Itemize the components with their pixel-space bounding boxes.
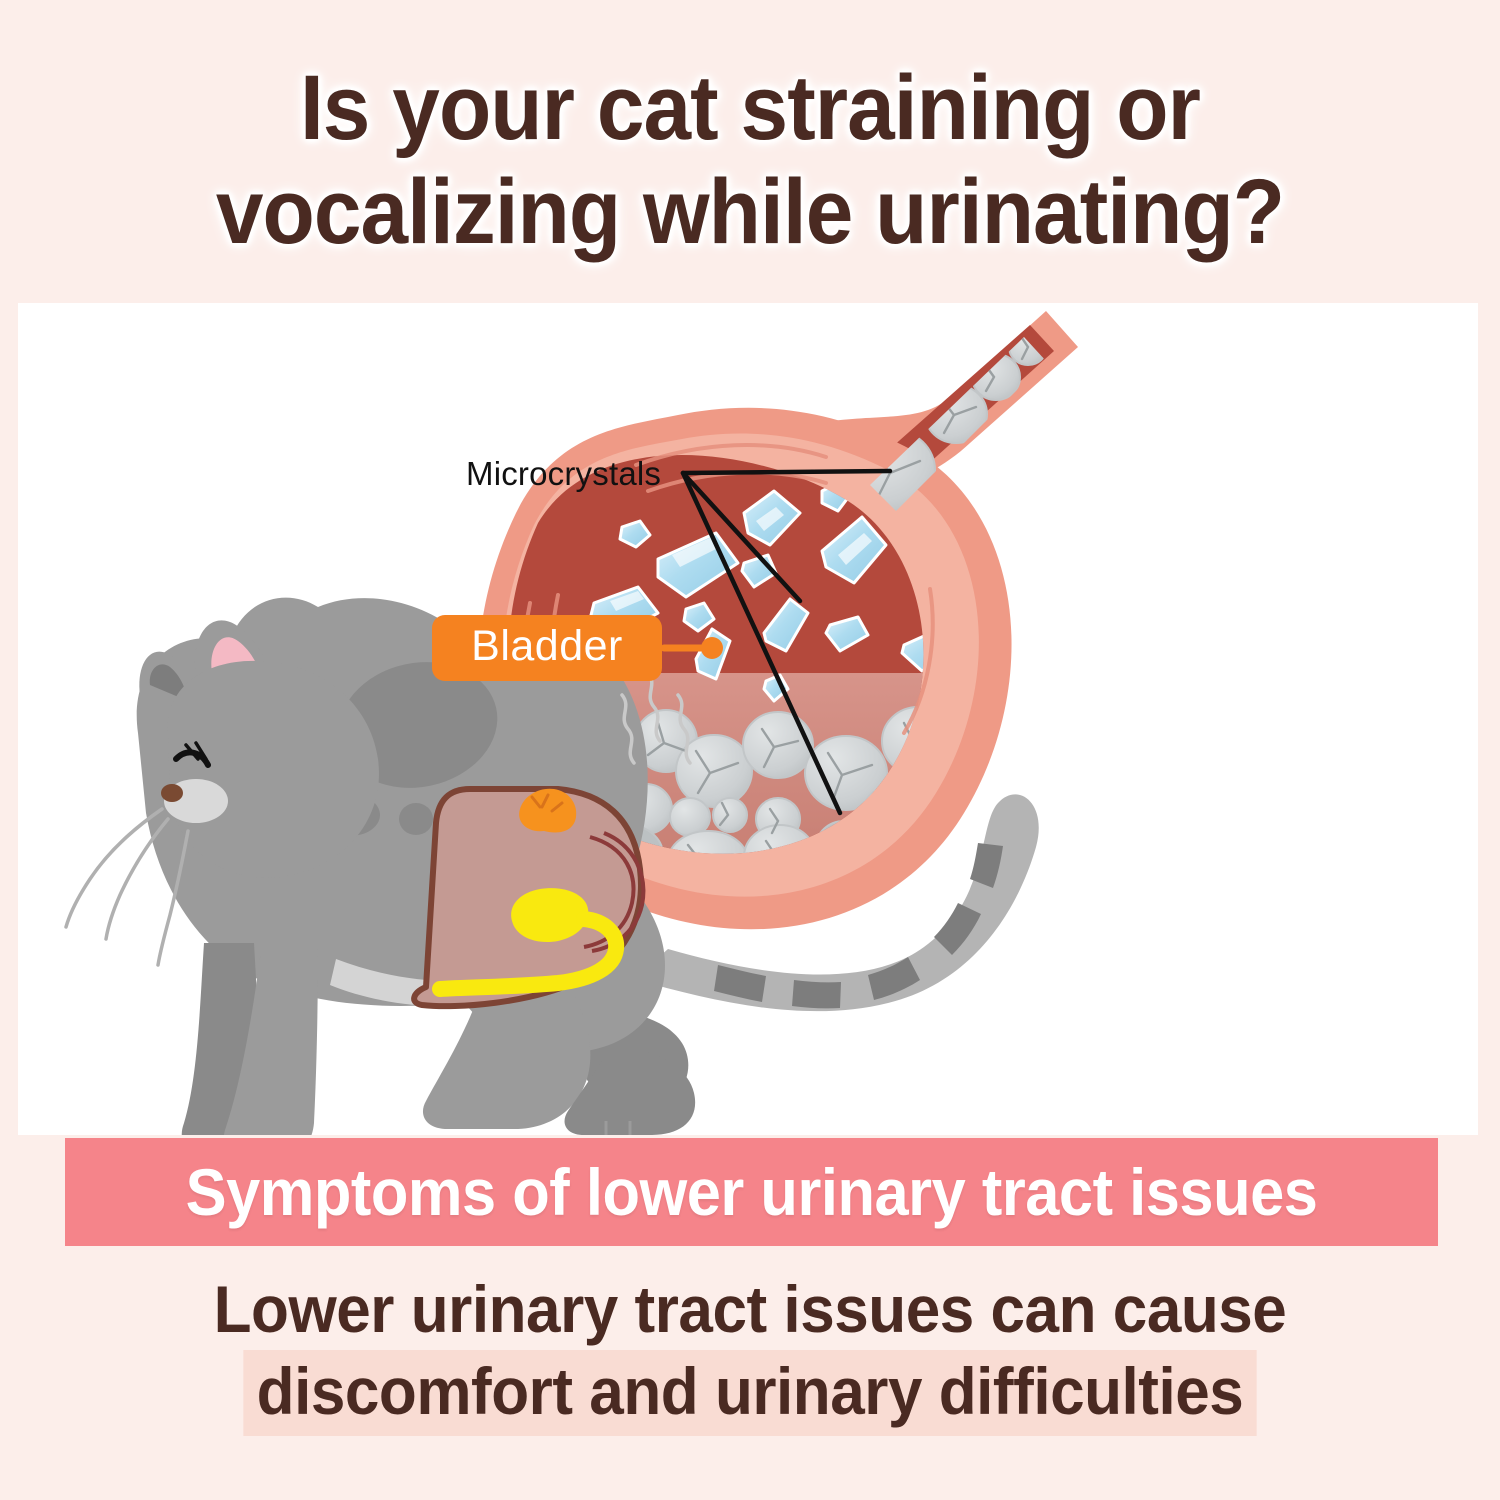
leader-line-urethra-stone [683,471,890,473]
bladder-label-text: Bladder [471,622,623,671]
illustration-svg [18,303,1478,1135]
title-line-1: Is your cat straining or [53,56,1448,160]
symptoms-banner: Symptoms of lower urinary tract issues [65,1138,1438,1246]
cat-nose [161,784,183,802]
illustration-panel [18,303,1478,1135]
bladder-label-chip[interactable]: Bladder [432,615,662,681]
page-title: Is your cat straining or vocalizing whil… [0,56,1500,264]
symptoms-banner-text: Symptoms of lower urinary tract issues [186,1154,1318,1230]
caption-line-2-text: discomfort and urinary difficulties [244,1350,1257,1436]
microcrystals-label: Microcrystals [466,455,661,493]
caption-line-1: Lower urinary tract issues can cause [45,1268,1455,1350]
title-line-2: vocalizing while urinating? [53,160,1448,264]
footer-caption: Lower urinary tract issues can cause dis… [0,1268,1500,1432]
infographic-root: Is your cat straining or vocalizing whil… [0,0,1500,1500]
caption-line-2: discomfort and urinary difficulties [45,1350,1455,1432]
urinary-tract-cutaway [414,789,643,1006]
